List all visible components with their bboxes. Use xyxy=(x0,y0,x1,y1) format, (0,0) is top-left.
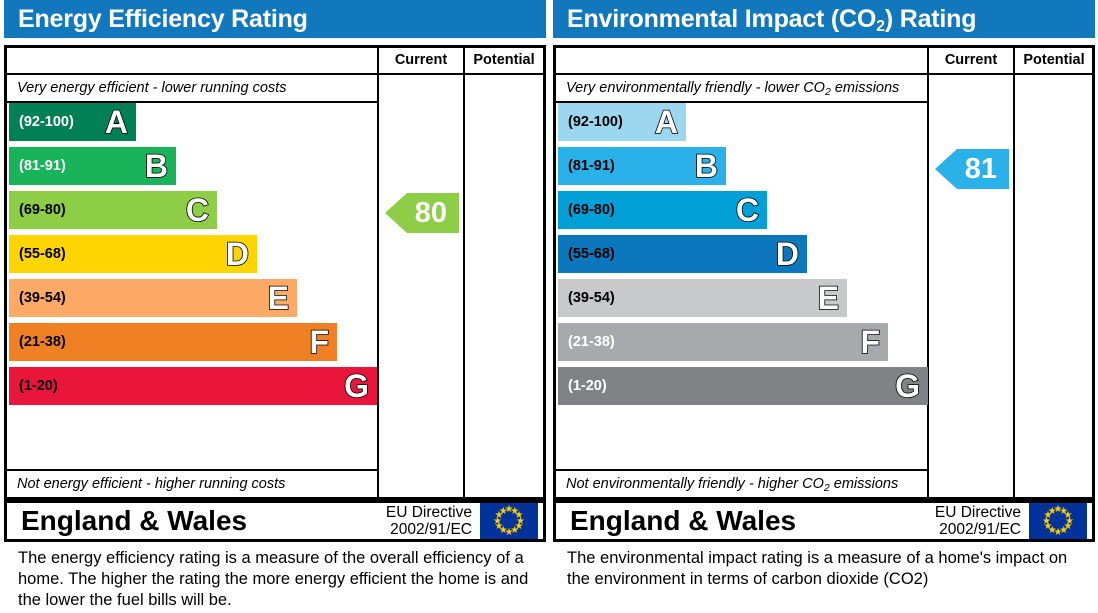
band-bar-e: (39-54) E xyxy=(9,279,297,317)
footer-directive: EU Directive 2002/91/EC xyxy=(935,504,1029,538)
band-letter-e: E xyxy=(268,282,289,314)
energy-efficiency-grid: Current Potential Very energy efficient … xyxy=(4,45,546,500)
band-letter-f: F xyxy=(860,326,880,358)
footer-directive-line2: 2002/91/EC xyxy=(386,521,472,538)
environmental-impact-grid: Current Potential Very environmentally f… xyxy=(553,45,1095,500)
band-letter-d: D xyxy=(776,238,799,270)
band-range-b: (81-91) xyxy=(558,158,615,174)
caption-not-efficient: Not energy efficient - higher running co… xyxy=(7,471,377,497)
energy-description: The energy efficiency rating is a measur… xyxy=(18,548,540,611)
column-header-current: Current xyxy=(379,48,463,73)
column-divider-current xyxy=(927,48,929,497)
environmental-impact-title: Environmental Impact (CO2) Rating xyxy=(553,0,1095,38)
band-letter-a: A xyxy=(105,106,128,138)
title-suffix: ) Rating xyxy=(885,5,976,33)
band-letter-e: E xyxy=(818,282,839,314)
band-bar-d: (55-68) D xyxy=(9,235,257,273)
current-rating-value: 80 xyxy=(415,197,447,230)
environmental-impact-panel: Environmental Impact (CO2) Rating Curren… xyxy=(553,0,1095,613)
energy-footer: England & Wales EU Directive 2002/91/EC … xyxy=(4,500,546,542)
band-letter-g: G xyxy=(895,370,920,402)
caption-top-suffix: emissions xyxy=(831,80,900,96)
band-range-g: (1-20) xyxy=(558,378,607,394)
energy-efficiency-panel: Energy Efficiency Rating Current Potenti… xyxy=(4,0,546,613)
band-bar-e: (39-54) E xyxy=(558,279,847,317)
band-letter-b: B xyxy=(695,150,718,182)
eu-star-icon: ★ xyxy=(1048,507,1057,516)
current-rating-value: 81 xyxy=(965,153,997,186)
band-range-a: (92-100) xyxy=(558,114,623,130)
environmental-description: The environmental impact rating is a mea… xyxy=(567,548,1089,590)
epc-rating-page: Energy Efficiency Rating Current Potenti… xyxy=(0,0,1098,613)
footer-directive-line2: 2002/91/EC xyxy=(935,521,1021,538)
column-header-potential: Potential xyxy=(465,48,543,73)
caption-top-subscript: 2 xyxy=(825,86,831,98)
band-bar-b: (81-91) B xyxy=(9,147,176,185)
band-range-f: (21-38) xyxy=(9,334,66,350)
column-divider-current xyxy=(377,48,379,497)
band-range-d: (55-68) xyxy=(9,246,66,262)
band-letter-f: F xyxy=(309,326,329,358)
band-bar-c: (69-80) C xyxy=(558,191,767,229)
title-subscript: 2 xyxy=(876,18,885,35)
current-rating-marker: 81 xyxy=(935,149,1009,189)
band-range-c: (69-80) xyxy=(558,202,615,218)
band-range-b: (81-91) xyxy=(9,158,66,174)
band-letter-a: A xyxy=(655,106,678,138)
energy-efficiency-title: Energy Efficiency Rating xyxy=(4,0,546,38)
band-bar-g: (1-20) G xyxy=(9,367,377,405)
caption-top-prefix: Very environmentally friendly - lower CO xyxy=(566,80,825,96)
caption-very-efficient: Very energy efficient - lower running co… xyxy=(7,75,377,101)
caption-bottom-suffix: emissions xyxy=(830,476,899,492)
column-header-current: Current xyxy=(929,48,1013,73)
band-range-f: (21-38) xyxy=(558,334,615,350)
band-range-e: (39-54) xyxy=(558,290,615,306)
band-bar-d: (55-68) D xyxy=(558,235,807,273)
band-range-g: (1-20) xyxy=(9,378,58,394)
caption-bottom-subscript: 2 xyxy=(824,482,830,494)
footer-directive-line1: EU Directive xyxy=(935,504,1021,521)
band-letter-c: C xyxy=(736,194,759,226)
band-bar-c: (69-80) C xyxy=(9,191,217,229)
eu-flag-icon: ★★★★★★★★★★★★ xyxy=(1029,503,1087,539)
band-range-c: (69-80) xyxy=(9,202,66,218)
title-prefix: Environmental Impact (CO xyxy=(567,5,876,33)
band-bar-a: (92-100) A xyxy=(9,103,136,141)
caption-not-friendly: Not environmentally friendly - higher CO… xyxy=(556,471,927,497)
band-letter-d: D xyxy=(226,238,249,270)
caption-bottom-prefix: Not environmentally friendly - higher CO xyxy=(566,476,824,492)
caption-very-friendly: Very environmentally friendly - lower CO… xyxy=(556,75,927,101)
eu-flag-icon: ★★★★★★★★★★★★ xyxy=(480,503,538,539)
current-rating-marker: 80 xyxy=(385,193,459,233)
band-bar-f: (21-38) F xyxy=(9,323,337,361)
band-range-a: (92-100) xyxy=(9,114,74,130)
column-header-potential: Potential xyxy=(1015,48,1093,73)
band-letter-c: C xyxy=(186,194,209,226)
footer-directive: EU Directive 2002/91/EC xyxy=(386,504,480,538)
environmental-footer: England & Wales EU Directive 2002/91/EC … xyxy=(553,500,1095,542)
band-range-d: (55-68) xyxy=(558,246,615,262)
band-letter-b: B xyxy=(145,150,168,182)
band-range-e: (39-54) xyxy=(9,290,66,306)
column-divider-potential xyxy=(463,48,465,497)
footer-directive-line1: EU Directive xyxy=(386,504,472,521)
column-header-row: Current Potential xyxy=(556,48,1092,75)
column-divider-potential xyxy=(1013,48,1015,497)
footer-region-label: England & Wales xyxy=(556,505,935,537)
band-bar-b: (81-91) B xyxy=(558,147,726,185)
band-bar-g: (1-20) G xyxy=(558,367,928,405)
band-bar-f: (21-38) F xyxy=(558,323,888,361)
band-letter-g: G xyxy=(344,370,369,402)
footer-region-label: England & Wales xyxy=(7,505,386,537)
band-bar-a: (92-100) A xyxy=(558,103,686,141)
eu-star-icon: ★ xyxy=(499,507,508,516)
